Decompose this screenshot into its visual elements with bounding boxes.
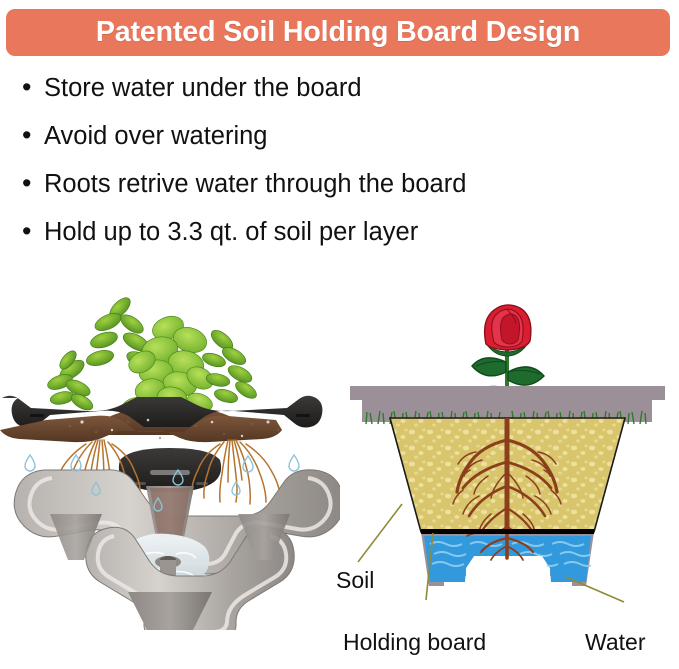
feature-list: • Store water under the board • Avoid ov… bbox=[22, 74, 662, 266]
bullet-icon: • bbox=[22, 74, 44, 101]
page-title: Patented Soil Holding Board Design bbox=[96, 18, 580, 47]
planter-cutaway-svg bbox=[0, 270, 340, 630]
header-banner: Patented Soil Holding Board Design bbox=[6, 9, 670, 56]
list-item: • Roots retrive water through the board bbox=[22, 170, 662, 218]
callout-label-holding-board: Holding board bbox=[343, 631, 486, 654]
list-item: • Store water under the board bbox=[22, 74, 662, 122]
callout-label-soil: Soil bbox=[336, 569, 374, 592]
list-item: • Hold up to 3.3 qt. of soil per layer bbox=[22, 218, 662, 266]
product-feature-infographic: Patented Soil Holding Board Design • Sto… bbox=[0, 0, 679, 669]
leader-line-soil bbox=[358, 504, 402, 562]
list-item-label: Roots retrive water through the board bbox=[44, 172, 466, 198]
callout-labels: Soil Holding board Water bbox=[330, 560, 679, 665]
callout-label-water: Water bbox=[585, 631, 646, 654]
list-item-label: Hold up to 3.3 qt. of soil per layer bbox=[44, 220, 418, 246]
list-item-label: Avoid over watering bbox=[44, 124, 268, 150]
list-item-label: Store water under the board bbox=[44, 76, 362, 102]
list-item: • Avoid over watering bbox=[22, 122, 662, 170]
holding-board-line bbox=[421, 529, 594, 534]
bullet-icon: • bbox=[22, 170, 44, 197]
bullet-icon: • bbox=[22, 122, 44, 149]
bullet-icon: • bbox=[22, 218, 44, 245]
stacked-planter-cutaway-photo bbox=[0, 270, 340, 630]
